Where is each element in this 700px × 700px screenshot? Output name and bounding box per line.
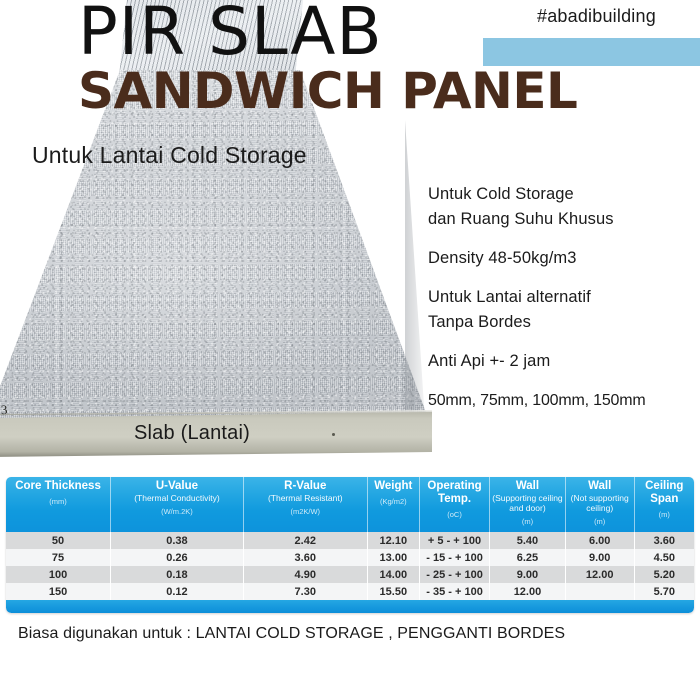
table-row: 50 0.38 2.42 12.10 + 5 - + 100 5.40 6.00… — [6, 532, 694, 549]
col-unit: (mm) — [8, 497, 108, 506]
poster-canvas: 3 Slab (Lantai) PIR SLAB SANDWICH PANEL … — [0, 0, 700, 700]
table-col-u-value: U-Value (Thermal Conductivity) (W/m.2K) — [111, 477, 244, 532]
cell: 12.00 — [565, 566, 634, 583]
cell: 4.90 — [243, 566, 367, 583]
feature-group: Untuk Cold Storage dan Ruang Suhu Khusus — [428, 182, 700, 232]
handwritten-mark: 3 — [1, 404, 8, 416]
col-subtitle: (Supporting ceiling and door) — [492, 493, 563, 513]
cell: + 5 - + 100 — [419, 532, 489, 549]
cell: 0.26 — [111, 549, 244, 566]
cell: 6.00 — [565, 532, 634, 549]
cell: 15.50 — [367, 583, 419, 600]
feature-line: Untuk Cold Storage — [428, 182, 700, 207]
cell: 5.20 — [634, 566, 694, 583]
table-footer-bar — [6, 600, 694, 613]
cell: 4.50 — [634, 549, 694, 566]
table-col-weight: Weight (Kg/m2) — [367, 477, 419, 532]
table-header-row: Core Thickness (mm) U-Value (Thermal Con… — [6, 477, 694, 532]
cell: 75 — [6, 549, 111, 566]
cell: 100 — [6, 566, 111, 583]
spec-table-wrapper: Core Thickness (mm) U-Value (Thermal Con… — [6, 477, 694, 613]
col-title: Weight — [370, 480, 417, 493]
table-row: 75 0.26 3.60 13.00 - 15 - + 100 6.25 9.0… — [6, 549, 694, 566]
cell: 0.38 — [111, 532, 244, 549]
feature-group: Anti Api +- 2 jam — [428, 349, 700, 374]
cell: 3.60 — [243, 549, 367, 566]
cell: - 25 - + 100 — [419, 566, 489, 583]
brand-hashtag: #abadibuilding — [537, 6, 656, 27]
feature-group: Untuk Lantai alternatif Tanpa Bordes — [428, 285, 700, 335]
feature-line-thicknesses: 50mm, 75mm, 100mm, 150mm — [428, 388, 700, 413]
table-col-wall-supporting: Wall (Supporting ceiling and door) (m) — [490, 477, 566, 532]
cell: 2.42 — [243, 532, 367, 549]
feature-line: Density 48-50kg/m3 — [428, 246, 700, 271]
col-title: Ceiling Span — [637, 480, 692, 506]
col-subtitle: (Not supporting ceiling) — [568, 493, 632, 513]
cell: 14.00 — [367, 566, 419, 583]
col-unit: (W/m.2K) — [113, 507, 241, 516]
col-title: Wall — [492, 480, 563, 493]
slab-edge-dot — [332, 433, 335, 436]
cell — [565, 583, 634, 600]
feature-line: Untuk Lantai alternatif — [428, 285, 700, 310]
cell: 3.60 — [634, 532, 694, 549]
spec-table-body: 50 0.38 2.42 12.10 + 5 - + 100 5.40 6.00… — [6, 532, 694, 600]
cell: 13.00 — [367, 549, 419, 566]
col-title: U-Value — [113, 480, 241, 493]
table-col-core-thickness: Core Thickness (mm) — [6, 477, 111, 532]
col-title: Operating Temp. — [422, 480, 487, 506]
col-unit: (m2K/W) — [246, 507, 365, 516]
col-subtitle: (Thermal Conductivity) — [113, 493, 241, 503]
col-subtitle: (Thermal Resistant) — [246, 493, 365, 503]
page-title-primary: PIR SLAB — [78, 0, 383, 68]
page-subtitle: Untuk Lantai Cold Storage — [32, 141, 307, 169]
spec-table-head: Core Thickness (mm) U-Value (Thermal Con… — [6, 477, 694, 532]
table-row: 100 0.18 4.90 14.00 - 25 - + 100 9.00 12… — [6, 566, 694, 583]
table-col-wall-not-supporting: Wall (Not supporting ceiling) (m) — [565, 477, 634, 532]
feature-group: 50mm, 75mm, 100mm, 150mm — [428, 388, 700, 413]
cell: 0.12 — [111, 583, 244, 600]
cell: 5.40 — [490, 532, 566, 549]
col-title: Wall — [568, 480, 632, 493]
spec-table: Core Thickness (mm) U-Value (Thermal Con… — [6, 477, 694, 600]
col-title: Core Thickness — [8, 480, 108, 493]
cell: 50 — [6, 532, 111, 549]
table-col-r-value: R-Value (Thermal Resistant) (m2K/W) — [243, 477, 367, 532]
cell: 0.18 — [111, 566, 244, 583]
page-title-secondary: SANDWICH PANEL — [78, 62, 577, 120]
col-title: R-Value — [246, 480, 365, 493]
cell: 7.30 — [243, 583, 367, 600]
cell: 9.00 — [565, 549, 634, 566]
table-col-operating-temp: Operating Temp. (oC) — [419, 477, 489, 532]
feature-group: Density 48-50kg/m3 — [428, 246, 700, 271]
feature-line: Anti Api +- 2 jam — [428, 349, 700, 374]
cell: 12.10 — [367, 532, 419, 549]
col-unit: (m) — [637, 510, 692, 519]
cell: - 15 - + 100 — [419, 549, 489, 566]
col-unit: (Kg/m2) — [370, 497, 417, 506]
feature-line: Tanpa Bordes — [428, 310, 700, 335]
col-unit: (m) — [492, 517, 563, 526]
feature-list: Untuk Cold Storage dan Ruang Suhu Khusus… — [428, 182, 700, 427]
cell: 12.00 — [490, 583, 566, 600]
slab-caption: Slab (Lantai) — [134, 422, 250, 445]
cell: - 35 - + 100 — [419, 583, 489, 600]
usage-note: Biasa digunakan untuk : LANTAI COLD STOR… — [18, 625, 565, 643]
col-unit: (m) — [568, 517, 632, 526]
table-row: 150 0.12 7.30 15.50 - 35 - + 100 12.00 5… — [6, 583, 694, 600]
cell: 9.00 — [490, 566, 566, 583]
cell: 5.70 — [634, 583, 694, 600]
cell: 150 — [6, 583, 111, 600]
table-col-ceiling-span: Ceiling Span (m) — [634, 477, 694, 532]
cell: 6.25 — [490, 549, 566, 566]
col-unit: (oC) — [422, 510, 487, 519]
feature-line: dan Ruang Suhu Khusus — [428, 207, 700, 232]
